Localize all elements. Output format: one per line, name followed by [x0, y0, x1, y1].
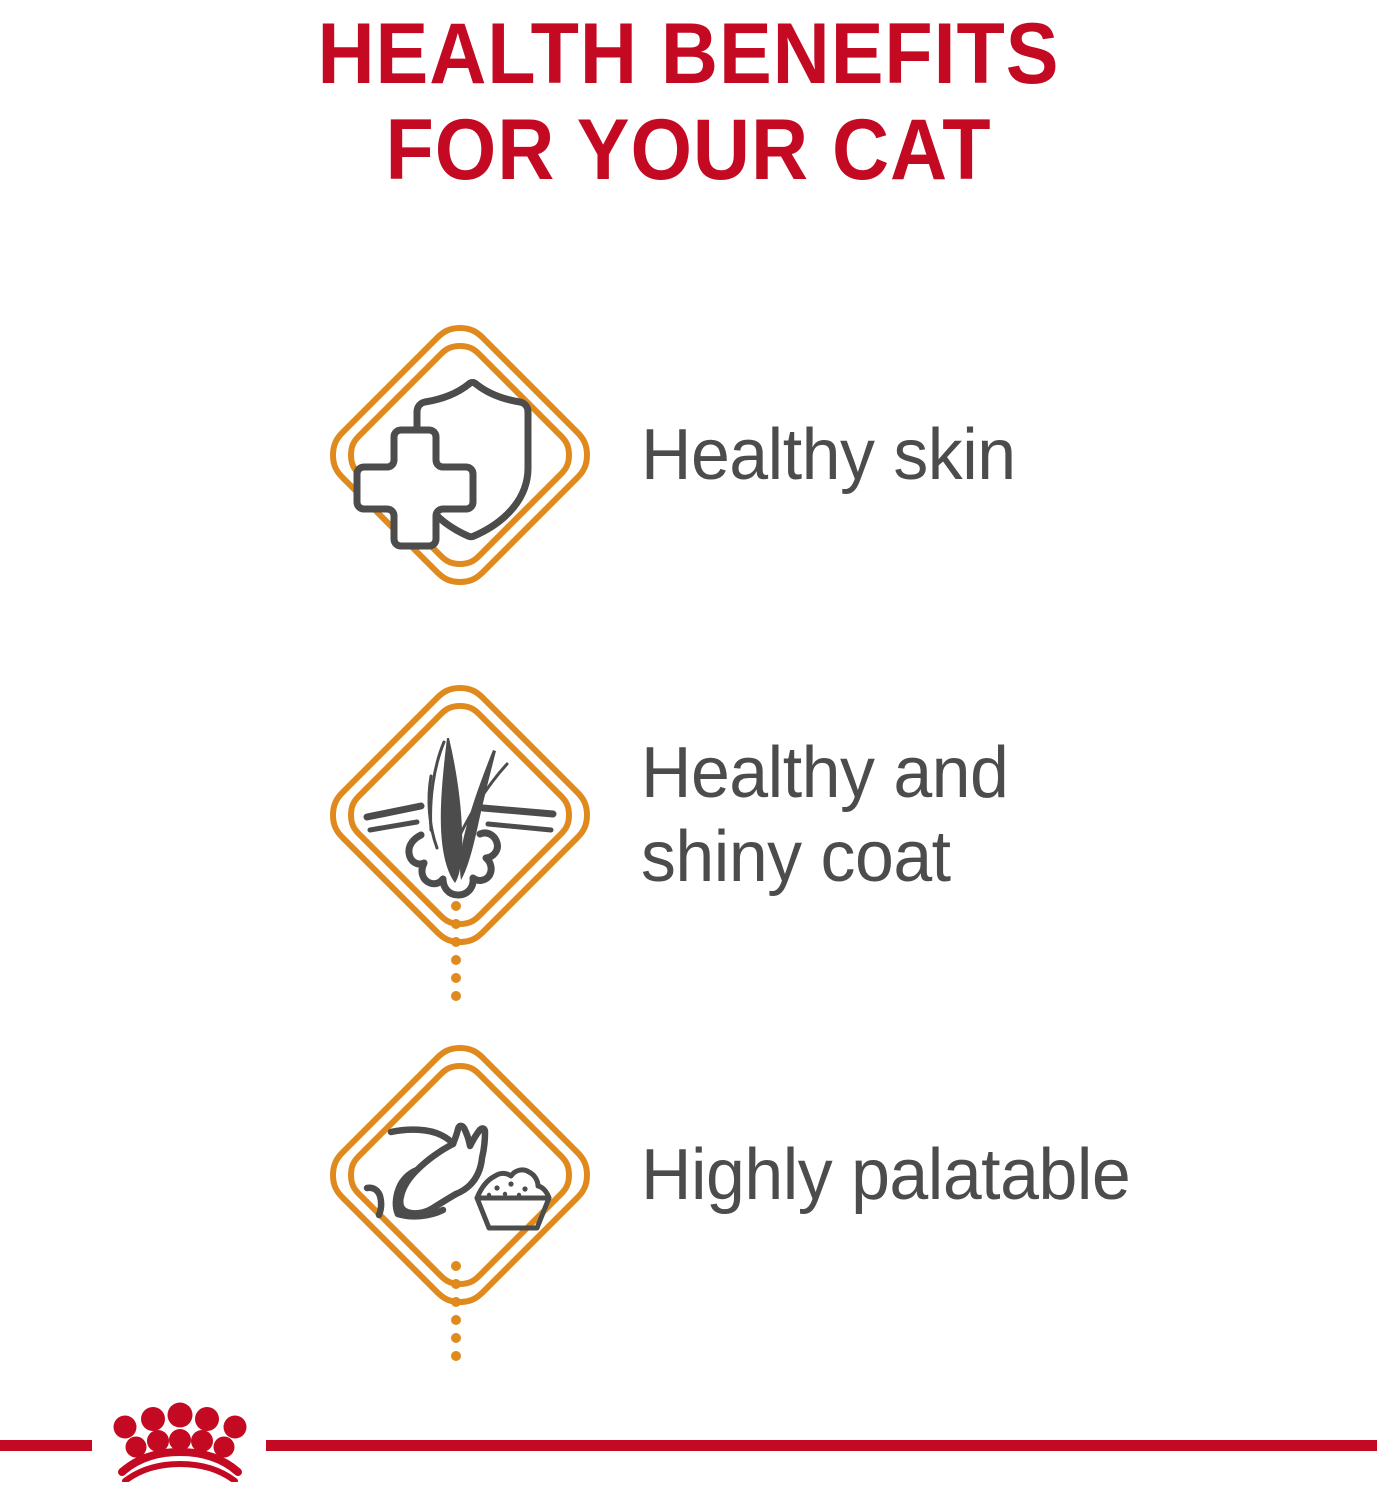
shield-plus-icon	[325, 320, 595, 590]
benefit-label: Highly palatable	[641, 1133, 1130, 1217]
page-title: HEALTH BENEFITS FOR YOUR CAT	[0, 0, 1377, 198]
connector-dot	[451, 1297, 461, 1307]
footer	[0, 1390, 1377, 1500]
connector-dot	[451, 973, 461, 983]
connector-dot	[451, 1261, 461, 1271]
benefit-label: Healthy skin	[641, 413, 1016, 497]
connector-dot	[451, 955, 461, 965]
connector-dot	[451, 1279, 461, 1289]
connector-dot	[451, 901, 461, 911]
connector-dot	[451, 1315, 461, 1325]
benefit-item-healthy-skin: Healthy skin	[0, 320, 1377, 590]
connector-dot	[451, 937, 461, 947]
page-title-line-2: FOR YOUR CAT	[55, 102, 1322, 198]
connector-dot	[451, 991, 461, 1001]
benefits-list: Healthy skin	[0, 310, 1377, 1320]
connector-dot	[451, 919, 461, 929]
page-title-line-1: HEALTH BENEFITS	[55, 0, 1322, 102]
footer-rule-left	[0, 1440, 92, 1451]
footer-rule-right	[266, 1440, 1377, 1451]
connector-dots-1	[450, 901, 462, 1001]
royal-canin-crown-logo	[92, 1398, 266, 1482]
connector-dots-2	[450, 1261, 462, 1361]
benefit-item-highly-palatable: Highly palatable	[0, 1040, 1377, 1310]
benefit-item-healthy-shiny-coat: Healthy and shiny coat	[0, 680, 1377, 950]
connector-dot	[451, 1333, 461, 1343]
connector-dot	[451, 1351, 461, 1361]
benefit-label: Healthy and shiny coat	[641, 731, 1008, 899]
